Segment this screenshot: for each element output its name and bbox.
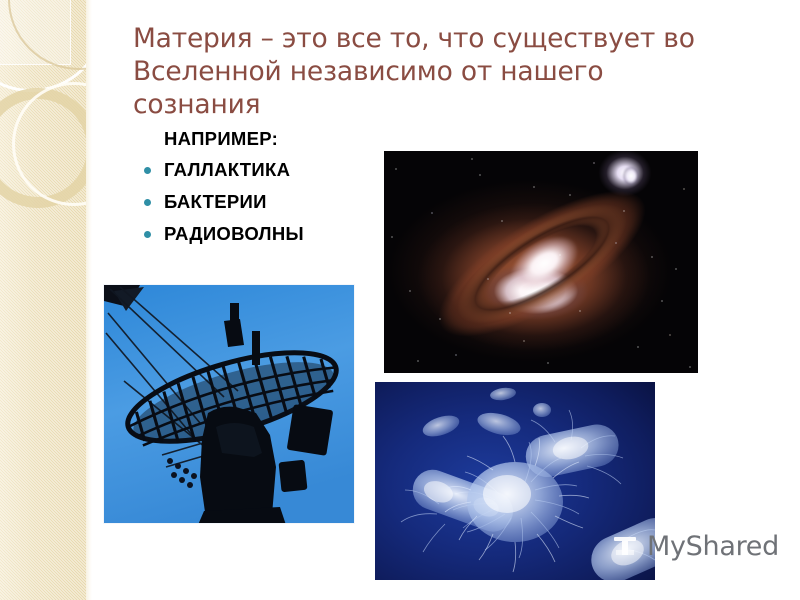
slide-title: Материя – это все то, что существует во … <box>133 22 733 121</box>
sidebar-edge-highlight <box>86 0 92 600</box>
list-item-label: РАДИОВОЛНЫ <box>164 223 304 244</box>
bullet-dot-icon <box>144 167 151 174</box>
bullet-dot-icon <box>144 199 151 206</box>
content-block: НАПРИМЕР: ГАЛЛАКТИКА БАКТЕРИИ РАДИОВОЛНЫ <box>140 128 390 255</box>
list-item: ГАЛЛАКТИКА <box>140 159 390 181</box>
companion-galaxy <box>620 163 642 189</box>
radio-telescope-image <box>103 284 355 524</box>
list-item: БАКТЕРИИ <box>140 191 390 213</box>
myshared-logo-icon <box>610 532 640 562</box>
list-item: РАДИОВОЛНЫ <box>140 223 390 245</box>
example-label: НАПРИМЕР: <box>164 128 390 150</box>
radio-telescope-silhouette-icon <box>104 285 355 524</box>
bullet-list: ГАЛЛАКТИКА БАКТЕРИИ РАДИОВОЛНЫ <box>140 159 390 245</box>
bullet-dot-icon <box>144 231 151 238</box>
slide-canvas: Материя – это все то, что существует во … <box>0 0 800 600</box>
watermark: MyShared <box>610 532 779 562</box>
watermark-text: MyShared <box>647 532 779 562</box>
list-item-label: ГАЛЛАКТИКА <box>164 159 290 180</box>
decorative-sidebar <box>0 0 86 600</box>
galaxy-image <box>384 151 698 373</box>
list-item-label: БАКТЕРИИ <box>164 191 267 212</box>
starfield <box>384 151 698 373</box>
